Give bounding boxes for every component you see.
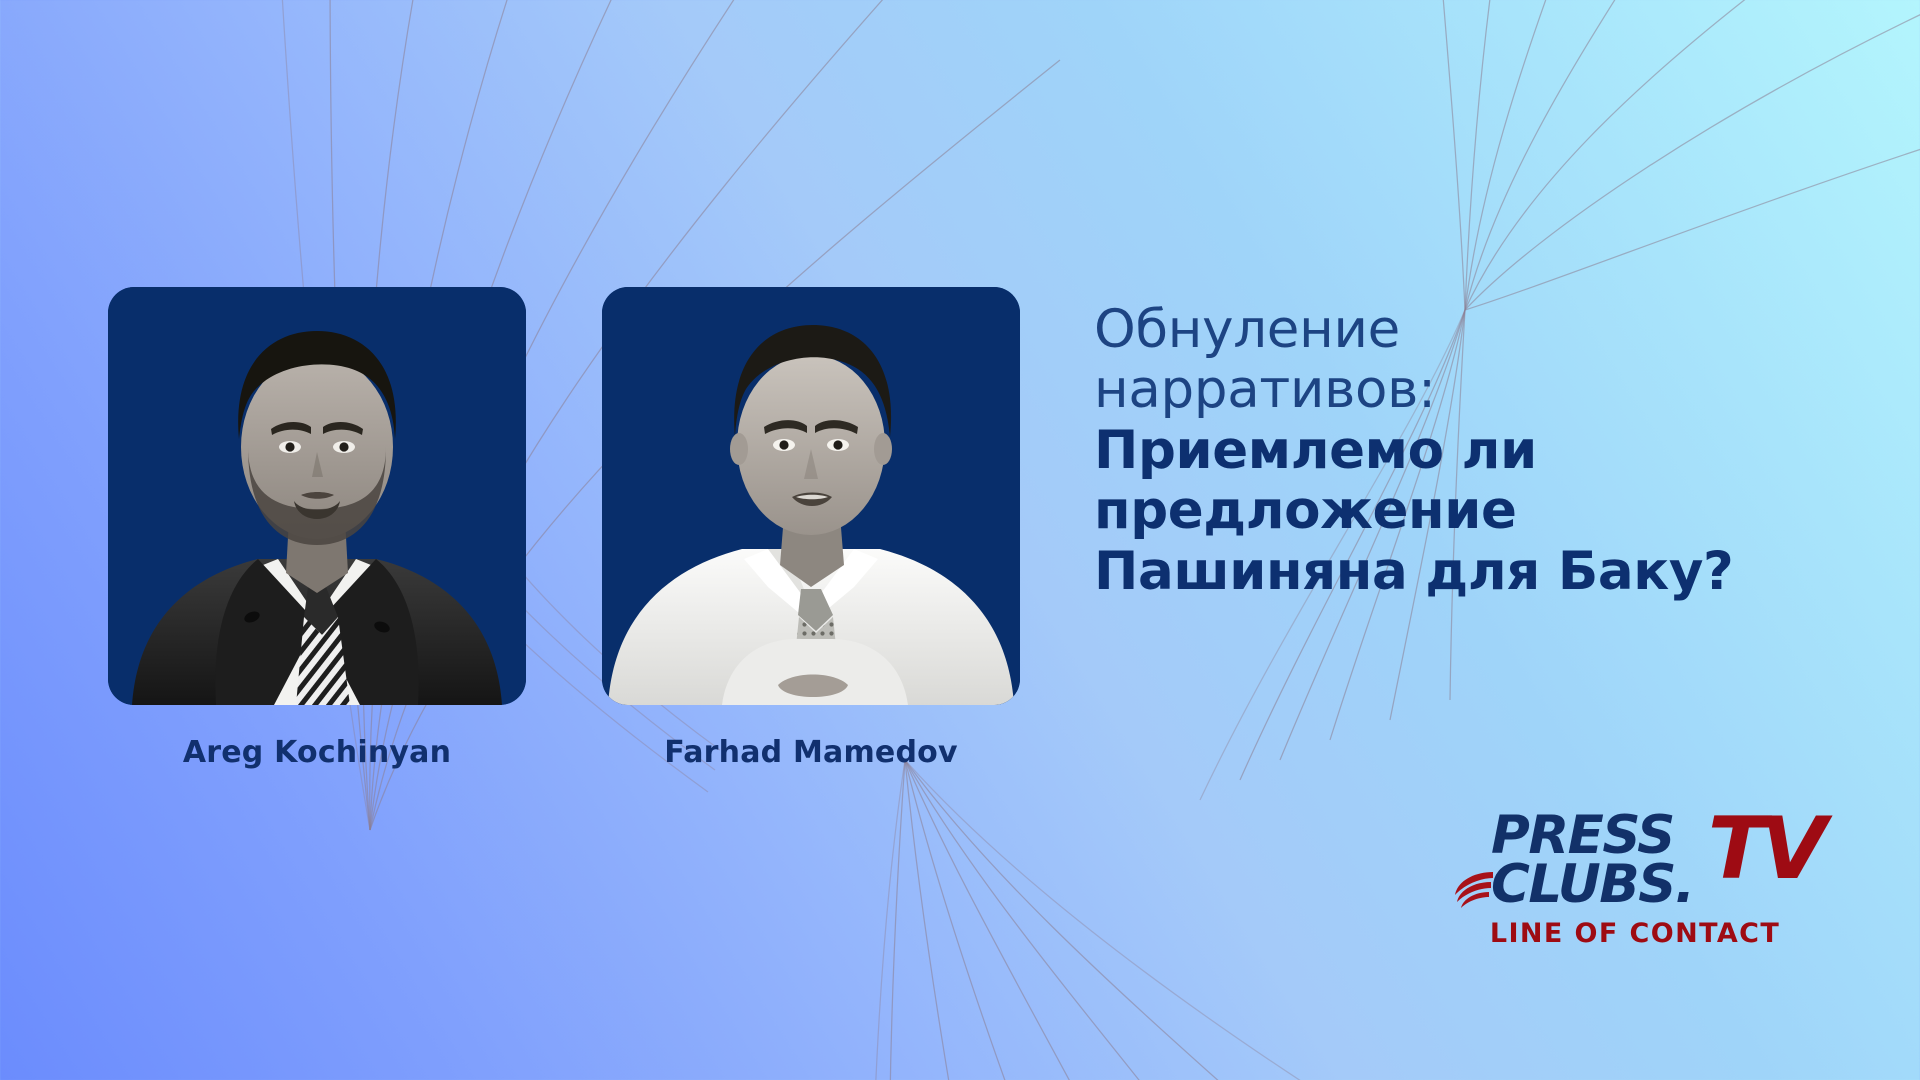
speaker-names: Areg Kochinyan Farhad Mamedov <box>108 735 1020 770</box>
headline-line-0: Обнуление <box>1094 300 1854 360</box>
headline-line-1: нарративов: <box>1094 360 1854 420</box>
speaker-card-1[interactable] <box>602 287 1020 705</box>
portrait-areg-kochinyan <box>108 287 526 705</box>
speaker-name-1: Farhad Mamedov <box>602 735 1020 770</box>
headline-line-3: предложение <box>1094 481 1854 541</box>
logo-tv-mark: TV <box>1708 806 1821 892</box>
speaker-cards <box>108 287 1020 705</box>
speaker-name-0: Areg Kochinyan <box>108 735 526 770</box>
headline-line-2: Приемлемо ли <box>1094 421 1854 481</box>
headline: Обнуление нарративов: Приемлемо ли предл… <box>1094 300 1854 602</box>
press-clubs-tv-logo[interactable]: PRESS CLUBS. TV LINE OF CONTACT <box>1455 812 1815 949</box>
portrait-farhad-mamedov <box>602 287 1020 705</box>
headline-line-4: Пашиняна для Баку? <box>1094 542 1854 602</box>
swirl-icon <box>1449 862 1501 914</box>
speaker-card-0[interactable] <box>108 287 526 705</box>
logo-tagline: LINE OF CONTACT <box>1455 918 1815 949</box>
